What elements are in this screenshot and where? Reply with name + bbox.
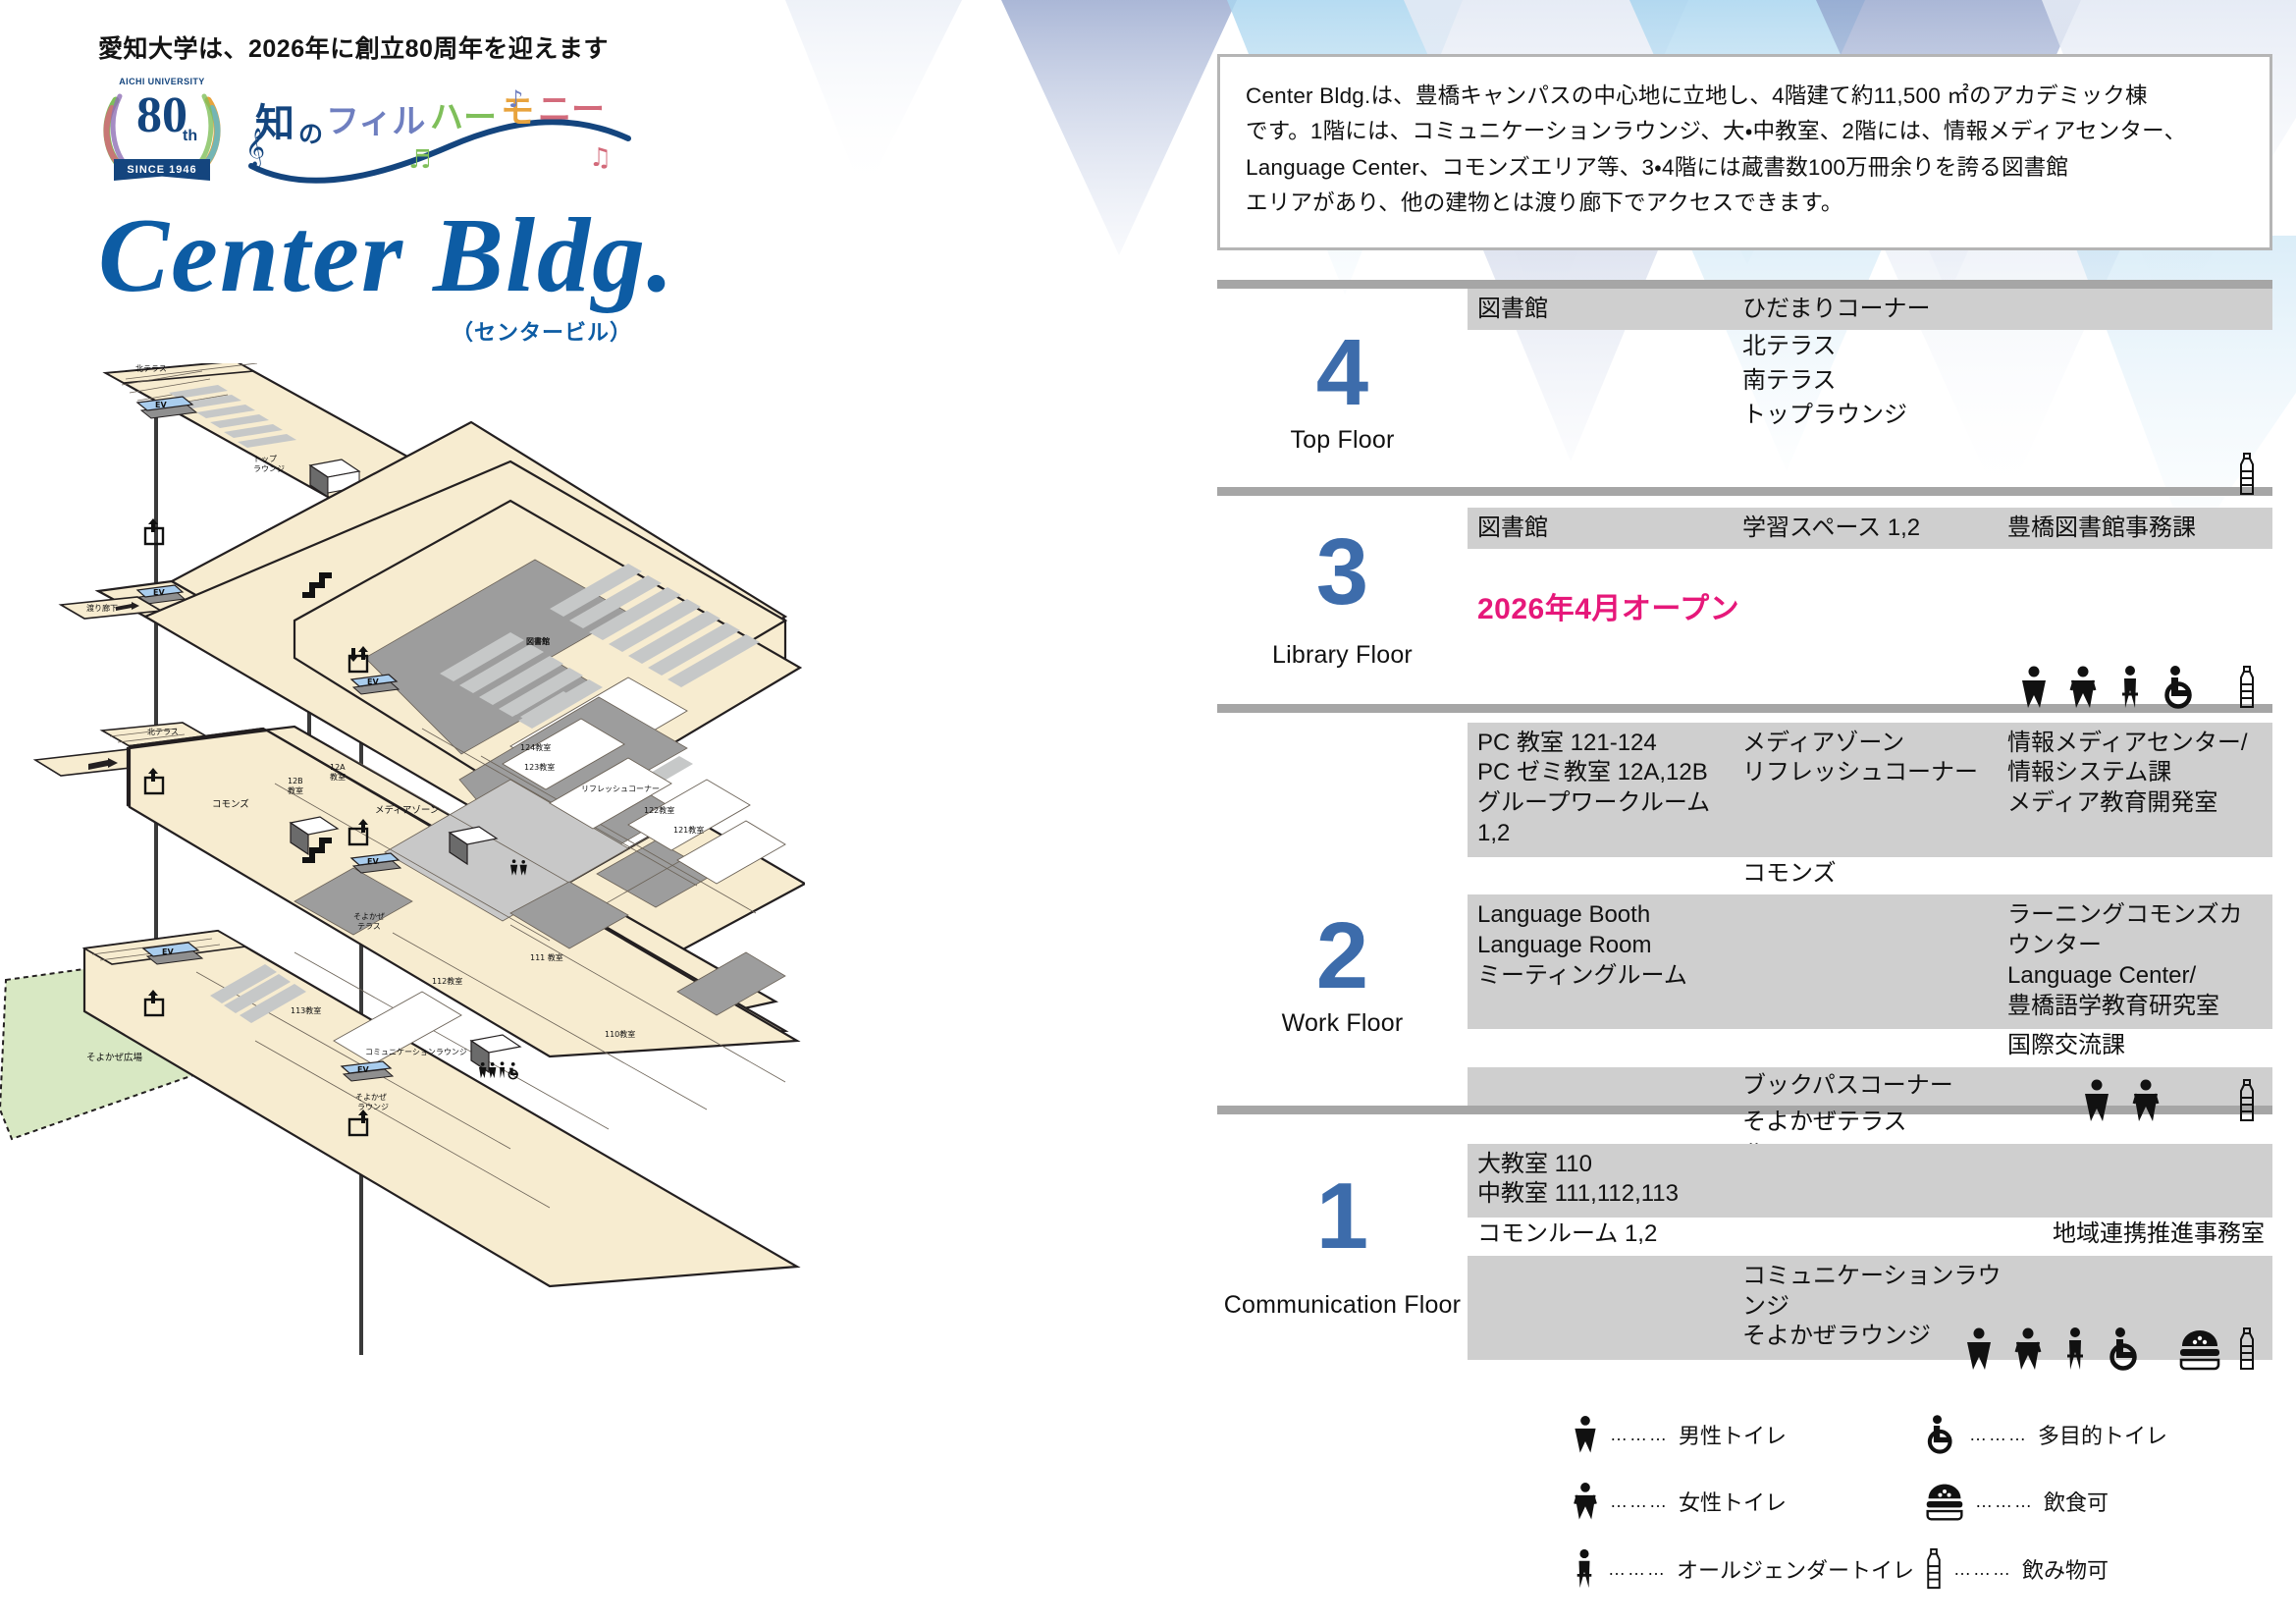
legend-dots-0: ……… (1610, 1425, 1669, 1445)
floor-3-number: 3 (1217, 525, 1468, 620)
accessible-toilet-icon (2106, 1326, 2145, 1372)
floor-4-left: 4 Top Floor (1217, 289, 1468, 487)
svg-text:♬: ♬ (408, 145, 431, 175)
floor-1-row-0: 大教室 110 中教室 111,112,113 (1468, 1144, 2272, 1218)
svg-text:ハー: ハー (430, 98, 497, 137)
floor-4-row-1: 北テラス (1468, 330, 2272, 364)
floor-2-row-2-c1: Language Booth Language Room ミーティングルーム (1477, 900, 1742, 991)
svg-text:12A: 12A (330, 763, 346, 772)
seal-number: 80 (98, 90, 226, 141)
floor-3-row-0-c2: 学習スペース 1,2 (1742, 514, 2007, 544)
svg-text:そよかぜ広場: そよかぜ広場 (86, 1052, 143, 1063)
floor-2-row-2: Language Booth Language Room ミーティングルーム ラ… (1468, 894, 2272, 1029)
svg-text:フィル: フィル (326, 102, 425, 141)
floor-3-row-0-c1: 図書館 (1477, 514, 1742, 544)
bottle-icon (2237, 1326, 2257, 1372)
female-toilet-icon (1571, 1481, 1600, 1522)
svg-text:ラウンジ: ラウンジ (357, 1103, 389, 1111)
description-line-1: Center Bldg.は、豊橋キャンパスの中心地に立地し、4階建て約11,50… (1246, 79, 2244, 114)
legend-label-2: 女性トイレ (1679, 1486, 1787, 1517)
bottle-icon (1924, 1547, 1944, 1591)
floor-3-en-label: Library Floor (1217, 641, 1468, 670)
right-panel: Center Bldg.は、豊橋キャンパスの中心地に立地し、4階建て約11,50… (1217, 54, 2272, 1350)
all-gender-toilet-icon (1571, 1548, 1598, 1590)
seal-suffix: th (183, 128, 197, 145)
page-title: Center Bldg. (98, 200, 785, 311)
svg-text:EV: EV (155, 401, 167, 409)
svg-text:教室: 教室 (288, 785, 303, 795)
svg-text:EV: EV (367, 677, 379, 686)
floor-4-row-0: 図書館 ひだまりコーナー (1468, 289, 2272, 331)
floor-1-row-1-c3: 地域連携推進事務室 (2007, 1219, 2265, 1250)
description-line-4: エリアがあり、他の建物とは渡り廊下でアクセスできます。 (1246, 186, 2244, 221)
legend-item-drink: ……… 飲み物可 (1924, 1547, 2277, 1591)
legend-label-0: 男性トイレ (1679, 1419, 1787, 1450)
floor-4-right: 図書館 ひだまりコーナー 北テラス 南テラス トップラウンジ (1468, 289, 2272, 487)
food-icon (2178, 1326, 2221, 1372)
floor-divider-top (1217, 280, 2272, 289)
legend-label-1: 多目的トイレ (2038, 1419, 2167, 1450)
male-toilet-icon (1571, 1414, 1600, 1455)
floor-2-row-1-c2: コモンズ (1742, 859, 2007, 890)
svg-text:北テラス: 北テラス (135, 364, 167, 373)
page-title-sub: （センタービル） (452, 315, 785, 347)
floor-3-row-0-c3: 豊橋図書館事務課 (2007, 514, 2265, 544)
svg-text:図書館: 図書館 (526, 636, 550, 646)
legend: ……… 男性トイレ ……… 多目的トイレ ……… 女性トイレ (1571, 1414, 2287, 1591)
svg-text:コミュニケーションラウンジ: コミュニケーションラウンジ (365, 1048, 467, 1056)
floor-2-row-0-c2: メディアゾーン リフレッシュコーナー (1742, 729, 2007, 788)
floor-3-row-0: 図書館 学習スペース 1,2 豊橋図書館事務課 (1468, 508, 2272, 550)
svg-text:リフレッシュコーナー: リフレッシュコーナー (581, 785, 660, 793)
floor-3-left: 3 Library Floor (1217, 496, 1468, 704)
svg-text:ラウンジ: ラウンジ (253, 464, 285, 473)
floor-4-row-0-c2: ひだまりコーナー (1742, 295, 2007, 325)
floor-2-right: PC 教室 121-124 PC ゼミ教室 12A,12B グループワークルーム… (1468, 713, 2272, 1106)
legend-dots-4: ……… (1608, 1559, 1667, 1580)
description-line-3: Language Center、コモンズエリア等、3・4階には蔵書数100万冊余… (1246, 150, 2244, 186)
male-toilet-icon (2017, 665, 2051, 710)
svg-text:110教室: 110教室 (605, 1029, 635, 1039)
floor-1-icons (1962, 1326, 2257, 1372)
floor-2-row-1: コモンズ (1468, 857, 2272, 892)
svg-text:ニー: ニー (538, 90, 605, 130)
floor-2-row-0-c1: PC 教室 121-124 PC ゼミ教室 12A,12B グループワークルーム… (1477, 729, 1742, 849)
svg-text:EV: EV (162, 947, 174, 956)
legend-item-male-toilet: ……… 男性トイレ (1571, 1414, 1924, 1455)
floor-4-en-label: Top Floor (1217, 426, 1468, 455)
building-description-box: Center Bldg.は、豊橋キャンパスの中心地に立地し、4階建て約11,50… (1217, 54, 2272, 250)
philharmony-logo-icon: 知 の フィル ハー モ ニー 𝄞 ♬ ♪ ♫ (243, 81, 636, 189)
svg-text:♫: ♫ (589, 143, 612, 173)
legend-dots-5: ……… (1953, 1559, 2012, 1580)
floor-2-row-4-c2: ブックパスコーナー (1742, 1071, 2007, 1102)
floor-2-left: 2 Work Floor (1217, 713, 1468, 1106)
logo-row: AICHI UNIVERSITY 80 th SINCE 1946 知 の フィ… (98, 77, 785, 194)
floor-4-row-1-c2: 北テラス (1742, 332, 2007, 362)
male-toilet-icon (1962, 1326, 1996, 1372)
svg-text:EV: EV (153, 588, 165, 597)
anniversary-seal-icon: AICHI UNIVERSITY 80 th SINCE 1946 (98, 77, 226, 194)
svg-text:124教室: 124教室 (520, 742, 551, 752)
floor-1-row-0-c1: 大教室 110 中教室 111,112,113 (1477, 1150, 1742, 1210)
svg-text:122教室: 122教室 (644, 805, 674, 815)
svg-text:12B: 12B (288, 777, 303, 785)
accessible-toilet-icon (2161, 665, 2200, 710)
floor-4-row-2: 南テラス (1468, 364, 2272, 399)
floor-1-number: 1 (1217, 1169, 1468, 1264)
svg-text:そよかぜ: そよかぜ (353, 912, 385, 921)
legend-item-female-toilet: ……… 女性トイレ (1571, 1481, 1924, 1522)
legend-dots-2: ……… (1610, 1491, 1669, 1512)
all-gender-toilet-icon (2115, 665, 2145, 710)
floor-3-open-note: 2026年4月オープン (1477, 584, 2272, 627)
floor-4-row-2-c2: 南テラス (1742, 366, 2007, 397)
legend-item-food: ……… 飲食可 (1924, 1481, 2277, 1522)
legend-label-4: オールジェンダートイレ (1677, 1553, 1914, 1585)
floor-3-icons (2017, 665, 2257, 710)
all-gender-toilet-icon (2060, 1326, 2090, 1372)
svg-text:♪: ♪ (508, 85, 523, 113)
legend-dots-3: ……… (1975, 1491, 2034, 1512)
svg-text:メディアゾーン: メディアゾーン (375, 804, 439, 816)
floor-block-3: 3 Library Floor 図書館 学習スペース 1,2 豊橋図書館事務課 … (1217, 496, 2272, 704)
floor-1-en-label: Communication Floor (1217, 1291, 1468, 1320)
floor-3-right: 図書館 学習スペース 1,2 豊橋図書館事務課 2026年4月オープン (1468, 496, 2272, 704)
floor1-stairs (471, 1035, 520, 1072)
isometric-building-map: .slab{fill:#f7ecd0;stroke:#231f20;stroke… (0, 363, 805, 1581)
floor-divider-4-3 (1217, 487, 2272, 496)
svg-text:コモンズ: コモンズ (212, 798, 249, 810)
accessible-toilet-icon (1924, 1414, 1959, 1455)
svg-text:EV: EV (367, 857, 379, 866)
legend-item-all-gender-toilet: ……… オールジェンダートイレ (1571, 1547, 1924, 1591)
floor-block-1: 1 Communication Floor 大教室 110 中教室 111,11… (1217, 1114, 2272, 1350)
svg-text:教室: 教室 (330, 772, 346, 782)
svg-text:112教室: 112教室 (432, 976, 462, 986)
floor-2-row-3: 国際交流課 (1468, 1029, 2272, 1063)
svg-text:113教室: 113教室 (291, 1005, 321, 1015)
female-toilet-icon (2066, 665, 2100, 710)
female-toilet-icon (2011, 1326, 2045, 1372)
floor-4-row-3: トップラウンジ (1468, 399, 2272, 433)
svg-text:テラス: テラス (357, 922, 381, 931)
floor-4-row-0-c1: 図書館 (1477, 295, 1742, 325)
floor-2-row-0: PC 教室 121-124 PC ゼミ教室 12A,12B グループワークルーム… (1468, 723, 2272, 857)
food-icon (1924, 1481, 1965, 1522)
floor-1-left: 1 Communication Floor (1217, 1114, 1468, 1350)
floor-1-right: 大教室 110 中教室 111,112,113 コモンルーム 1,2 地域連携推… (1468, 1114, 2272, 1350)
floor-4-number: 4 (1217, 326, 1468, 420)
description-line-2: です。1階には、コミュニケーションラウンジ、大・中教室、2階には、情報メディアセ… (1246, 114, 2244, 149)
svg-text:の: の (298, 120, 323, 148)
legend-label-3: 飲食可 (2044, 1486, 2109, 1517)
header-block: 愛知大学は、2026年に創立80周年を迎えます AICHI UNIVERSITY… (98, 29, 785, 347)
bottle-icon (2237, 665, 2257, 710)
legend-item-accessible-toilet: ……… 多目的トイレ (1924, 1414, 2277, 1455)
svg-text:トップ: トップ (253, 455, 277, 463)
svg-text:121教室: 121教室 (673, 825, 704, 835)
svg-text:𝄞: 𝄞 (245, 128, 265, 168)
floor-2-row-0-c3: 情報メディアセンター/ 情報システム課 メディア教育開発室 (2007, 729, 2265, 819)
legend-label-5: 飲み物可 (2022, 1553, 2109, 1585)
floor-2-row-3-c3: 国際交流課 (2007, 1031, 2265, 1061)
legend-dots-1: ……… (1969, 1425, 2028, 1445)
floor-1-row-1-c1: コモンルーム 1,2 (1477, 1219, 1742, 1250)
floor-2-en-label: Work Floor (1217, 1009, 1468, 1038)
floor-2-row-2-c3: ラーニングコモンズカウンター Language Center/ 豊橋語学教育研究… (2007, 900, 2265, 1021)
seal-university-label: AICHI UNIVERSITY (98, 77, 226, 86)
floor-1-row-1: コモンルーム 1,2 地域連携推進事務室 (1468, 1218, 2272, 1252)
floor-block-4: 4 Top Floor 図書館 ひだまりコーナー 北テラス 南テラス トップラウ… (1217, 289, 2272, 487)
svg-text:そよかぜ: そよかぜ (355, 1093, 387, 1102)
anniversary-tagline: 愛知大学は、2026年に創立80周年を迎えます (98, 29, 785, 65)
bottle-icon (2237, 452, 2257, 497)
floor-4-row-3-c2: トップラウンジ (1742, 401, 2007, 431)
floor-2-number: 2 (1217, 909, 1468, 1003)
svg-text:渡り廊下: 渡り廊下 (86, 603, 118, 613)
svg-text:111 教室: 111 教室 (530, 952, 563, 962)
svg-text:123教室: 123教室 (524, 762, 555, 772)
svg-text:北テラス: 北テラス (147, 728, 179, 736)
floor-4-icons (2237, 452, 2257, 497)
floor-block-2: 2 Work Floor PC 教室 121-124 PC ゼミ教室 12A,1… (1217, 713, 2272, 1106)
svg-text:EV: EV (357, 1065, 369, 1074)
